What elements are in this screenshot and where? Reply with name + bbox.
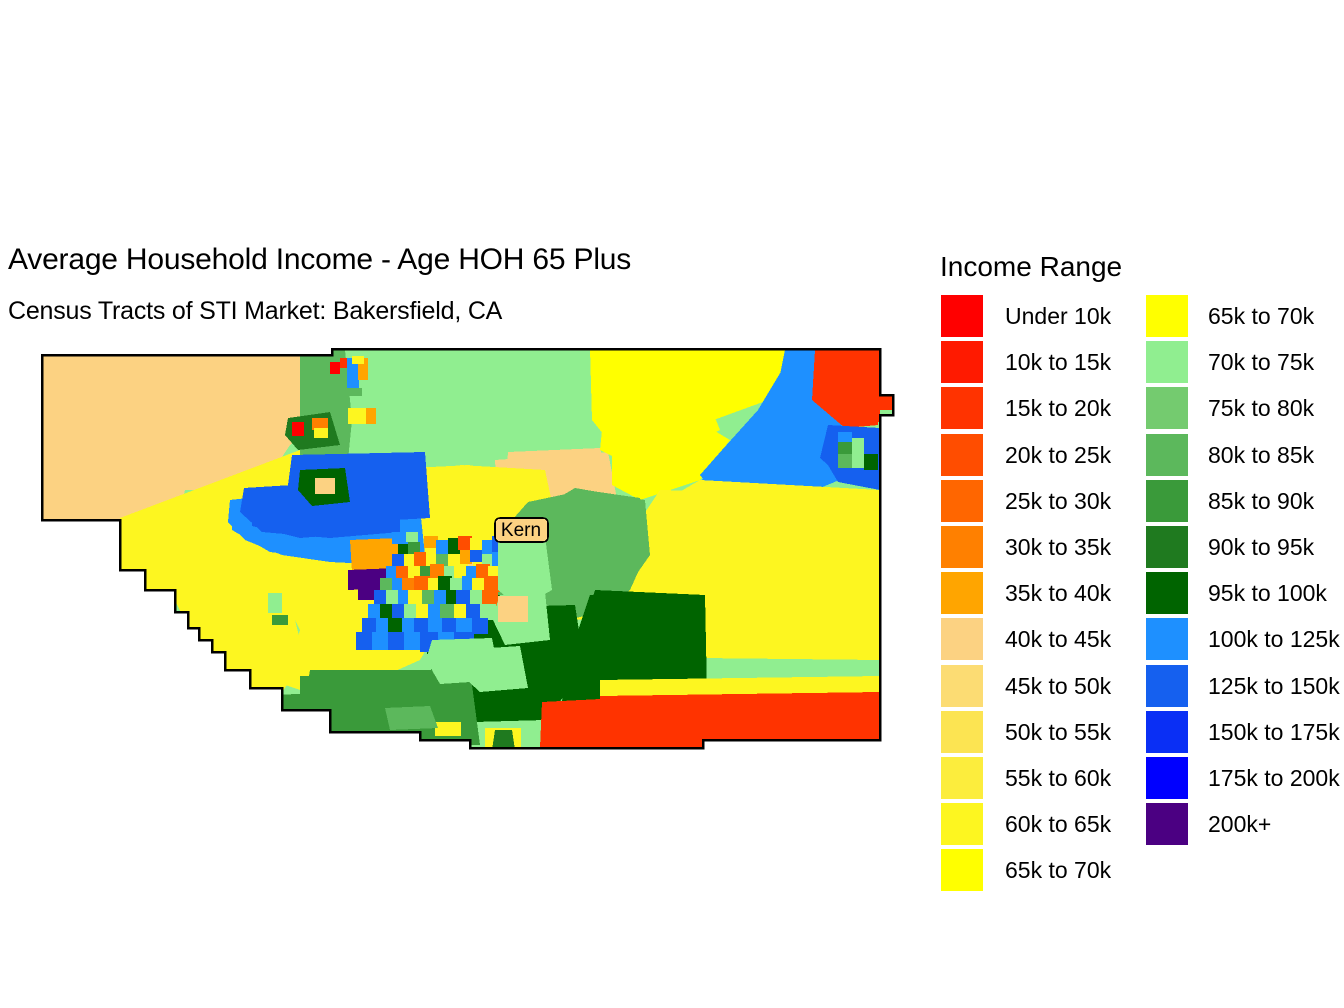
legend-label: 25k to 30k: [1005, 488, 1111, 515]
legend-label: 75k to 80k: [1208, 395, 1314, 422]
legend-label: 200k+: [1208, 811, 1271, 838]
legend-label: 20k to 25k: [1005, 442, 1111, 469]
legend-label: 70k to 75k: [1208, 349, 1314, 376]
legend-label: 60k to 65k: [1005, 811, 1111, 838]
legend-swatch: [941, 526, 983, 568]
legend-swatch: [1146, 434, 1188, 476]
legend-swatch: [1146, 711, 1188, 753]
legend-swatch: [941, 803, 983, 845]
map-page: Average Household Income - Age HOH 65 Pl…: [0, 0, 1344, 1008]
legend-swatch: [941, 341, 983, 383]
legend-label: 55k to 60k: [1005, 765, 1111, 792]
legend-label: 100k to 125k: [1208, 626, 1340, 653]
legend-swatch: [1146, 803, 1188, 845]
legend-label: 95k to 100k: [1208, 580, 1327, 607]
legend-label: 85k to 90k: [1208, 488, 1314, 515]
legend-swatch: [1146, 665, 1188, 707]
legend-label: 35k to 40k: [1005, 580, 1111, 607]
legend-swatch: [941, 434, 983, 476]
legend-swatch: [1146, 757, 1188, 799]
legend-swatch: [941, 387, 983, 429]
legend-swatch: [1146, 387, 1188, 429]
legend-label: 10k to 15k: [1005, 349, 1111, 376]
legend-swatch: [941, 665, 983, 707]
legend-swatch: [941, 849, 983, 891]
legend-swatch: [941, 618, 983, 660]
legend-label: Under 10k: [1005, 303, 1111, 330]
legend-swatch: [941, 711, 983, 753]
legend-label: 65k to 70k: [1208, 303, 1314, 330]
legend-swatch: [1146, 618, 1188, 660]
legend-label: 90k to 95k: [1208, 534, 1314, 561]
legend-swatch: [941, 295, 983, 337]
page-title: Average Household Income - Age HOH 65 Pl…: [8, 243, 631, 277]
legend-label: 80k to 85k: [1208, 442, 1314, 469]
legend-label: 150k to 175k: [1208, 719, 1340, 746]
legend-swatch: [1146, 526, 1188, 568]
choropleth-map[interactable]: Kern: [0, 340, 910, 760]
legend-label: 30k to 35k: [1005, 534, 1111, 561]
legend-label: 45k to 50k: [1005, 673, 1111, 700]
map-legend: Income Range Under 10k10k to 15k15k to 2…: [930, 245, 1344, 860]
legend-swatch: [941, 480, 983, 522]
legend-label: 15k to 20k: [1005, 395, 1111, 422]
legend-swatch: [1146, 480, 1188, 522]
legend-swatch: [1146, 572, 1188, 614]
map-svg[interactable]: Kern: [0, 340, 910, 760]
legend-swatch: [941, 572, 983, 614]
page-subtitle: Census Tracts of STI Market: Bakersfield…: [8, 297, 502, 326]
legend-title: Income Range: [940, 251, 1122, 283]
legend-label: 40k to 45k: [1005, 626, 1111, 653]
county-label-text: Kern: [501, 520, 541, 541]
legend-swatch: [941, 757, 983, 799]
legend-label: 65k to 70k: [1005, 857, 1111, 884]
legend-swatch: [1146, 295, 1188, 337]
legend-swatch: [1146, 341, 1188, 383]
legend-label: 125k to 150k: [1208, 673, 1340, 700]
legend-label: 175k to 200k: [1208, 765, 1340, 792]
legend-label: 50k to 55k: [1005, 719, 1111, 746]
county-label-kern: Kern: [495, 518, 548, 542]
